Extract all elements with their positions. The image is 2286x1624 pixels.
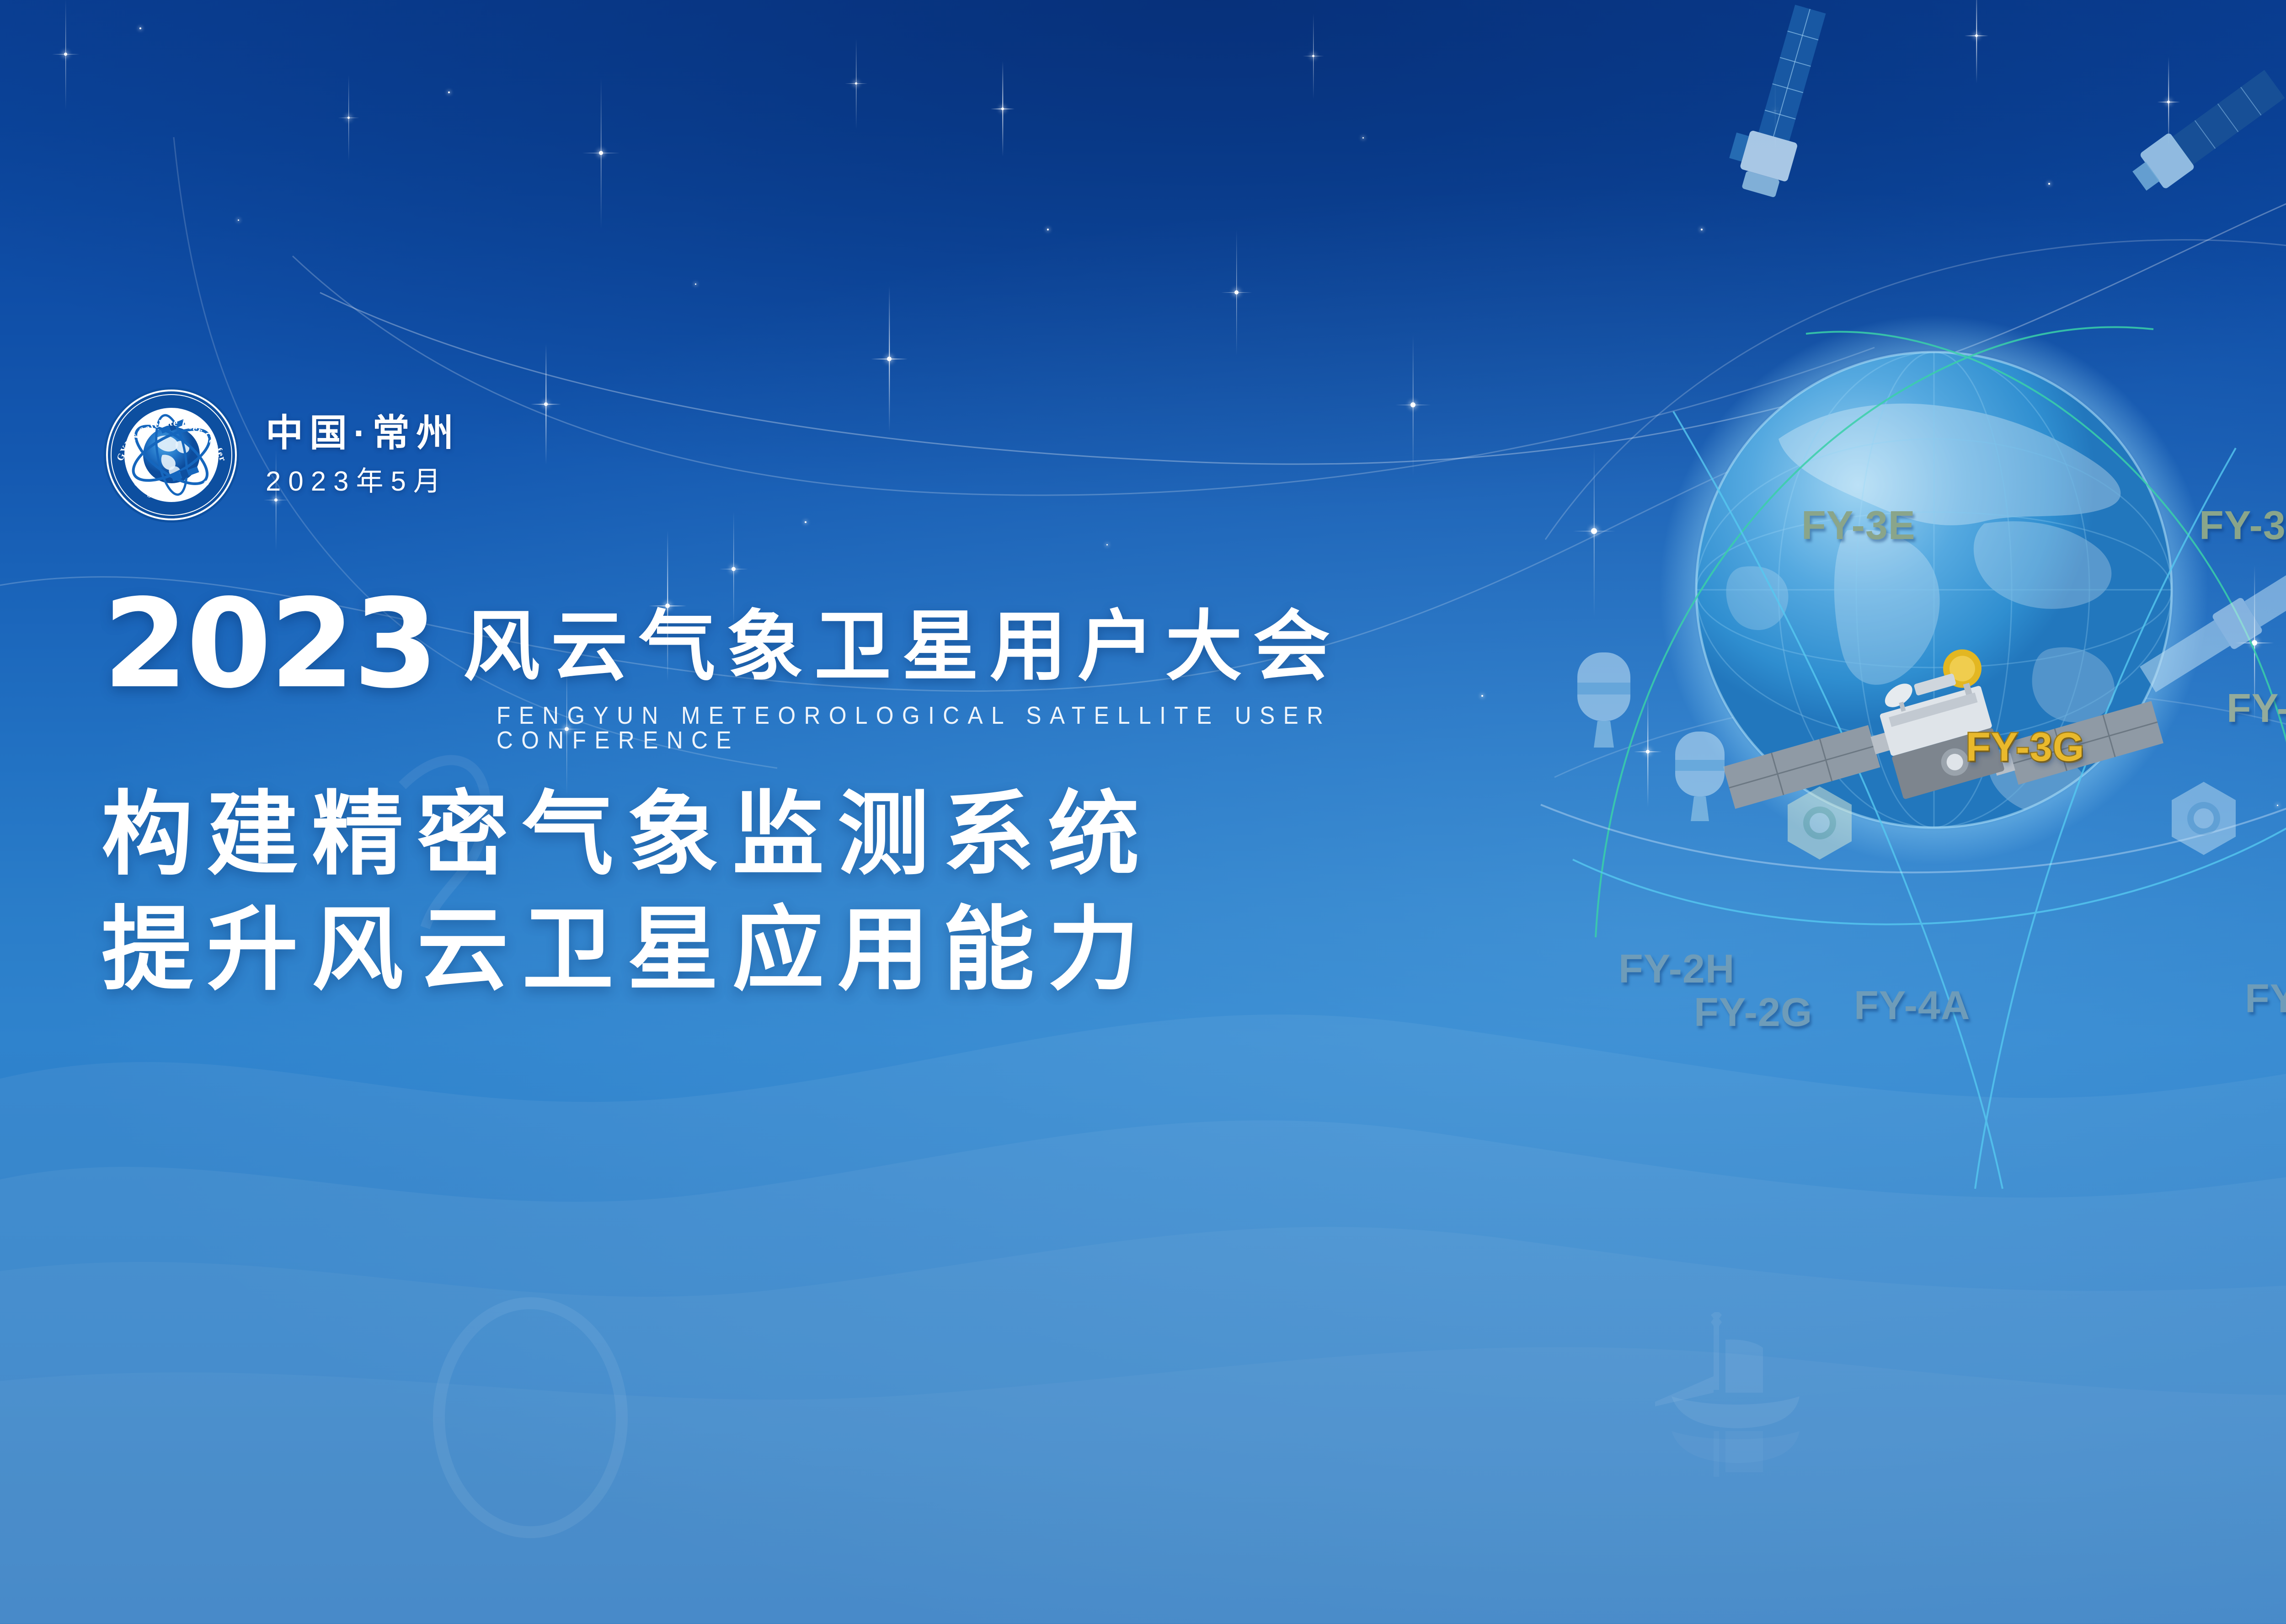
globe-scene bbox=[1458, 0, 2286, 1212]
satellite-fy-4b bbox=[2172, 782, 2236, 855]
satellite-label-fy-3c: FY-3C bbox=[2199, 505, 2286, 545]
seal-icon: FENGYUN Satellite User Conference Changz… bbox=[103, 386, 240, 524]
satellite-fy-3e bbox=[1722, 0, 1835, 200]
satellite-label-fy-2g: FY-2G bbox=[1694, 992, 1812, 1032]
sailboat-watermark-icon bbox=[1628, 1294, 1838, 1486]
conference-identity: FENGYUN Satellite User Conference Changz… bbox=[103, 386, 460, 524]
event-meta: 中国·常州 2023年5月 bbox=[266, 415, 460, 495]
conference-poster: FENGYUN Satellite User Conference Changz… bbox=[0, 0, 2286, 1624]
satellite-fy-2h bbox=[1577, 652, 1630, 748]
satellite-fy-2g bbox=[1675, 732, 1725, 821]
satellite-fy-3c bbox=[2126, 65, 2286, 199]
satellite-label-fy-3d: FY-3D bbox=[2227, 688, 2286, 728]
satellite-label-fy-2h: FY-2H bbox=[1618, 949, 1735, 989]
event-city: 中国·常州 bbox=[266, 415, 460, 452]
slogan-line-1: 构建精密气象监测系统 bbox=[101, 777, 1153, 892]
conference-seal-logo: FENGYUN Satellite User Conference Changz… bbox=[103, 386, 240, 524]
headline-year: 2023 bbox=[103, 594, 437, 695]
satellite-label-fy-3e: FY-3E bbox=[1801, 505, 1916, 545]
headline-chinese: 风云气象卫星用户大会 bbox=[463, 608, 1341, 695]
headline-block: 2023 风云气象卫星用户大会 FENGYUN METEOROLOGICAL S… bbox=[103, 594, 1657, 753]
slogan-line-2: 提升风云卫星应用能力 bbox=[101, 892, 1153, 1008]
satellite-label-fy-4a: FY-4A bbox=[1854, 985, 1970, 1026]
slogan-block: 构建精密气象监测系统 提升风云卫星应用能力 bbox=[101, 777, 1153, 1008]
satellite-label-fy-4b: FY-4B bbox=[2245, 978, 2286, 1019]
headline-english: FENGYUN METEOROLOGICAL SATELLITE USER CO… bbox=[497, 703, 1565, 753]
event-date: 2023年5月 bbox=[266, 468, 460, 495]
satellite-label-fy-3g: FY-3G bbox=[1966, 727, 2084, 767]
